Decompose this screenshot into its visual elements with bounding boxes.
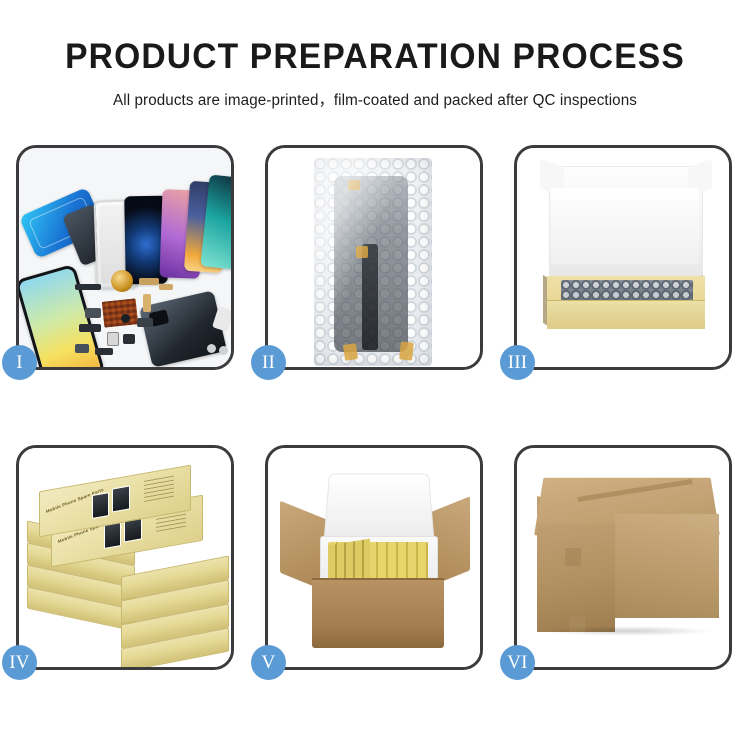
process-step-panel-3[interactable]: III (514, 145, 732, 370)
page-subtitle: All products are image-printed，film-coat… (8, 88, 743, 110)
part-fragment (75, 284, 101, 290)
page-title: PRODUCT PREPARATION PROCESS (15, 38, 735, 77)
step-5-image (268, 448, 480, 667)
process-step-panel-1[interactable]: I (16, 145, 234, 370)
part-fragment (139, 278, 159, 285)
step-badge-5: V (251, 645, 286, 680)
retail-box-stack: Mobile Phone Spare Parts Mobile Phone Sp… (25, 470, 231, 656)
step-badge-3: III (500, 345, 535, 380)
step-3-image (517, 148, 729, 367)
page-header: PRODUCT PREPARATION PROCESS All products… (0, 0, 750, 110)
part-fragment (75, 344, 89, 353)
bubble-wrap-gloss (314, 158, 432, 366)
process-step-panel-2[interactable]: II (265, 145, 483, 370)
carton-tab (565, 548, 581, 566)
part-fragment (159, 284, 173, 290)
step-badge-2: II (251, 345, 286, 380)
step-1-image (19, 148, 231, 367)
part-fragment (123, 334, 135, 344)
step-2-image (268, 148, 480, 367)
screw-part (207, 344, 216, 353)
step-4-image: Mobile Phone Spare Parts Mobile Phone Sp… (19, 448, 231, 667)
part-fragment (137, 318, 153, 327)
step-badge-6: VI (500, 645, 535, 680)
process-step-panel-5[interactable]: V (265, 445, 483, 670)
process-step-panel-4[interactable]: Mobile Phone Spare Parts Mobile Phone Sp… (16, 445, 234, 670)
box-product-photo (104, 522, 121, 549)
box-product-photo (92, 492, 109, 519)
carton-right-face (615, 514, 719, 618)
carton-front-face (312, 580, 444, 648)
part-fragment (85, 308, 101, 318)
step-badge-4: IV (2, 645, 37, 680)
step-badge-1: I (2, 345, 37, 380)
kraft-box-front (547, 300, 705, 329)
phone-back-housing (139, 290, 227, 367)
screw-part (219, 346, 228, 355)
phones-and-parts-illustration (19, 148, 231, 367)
foam-sheet (551, 188, 699, 264)
part-fragment (79, 324, 101, 332)
box-product-photo (112, 485, 130, 512)
logic-board-part (102, 298, 139, 327)
part-fragment (95, 348, 113, 355)
box-spec-text (144, 475, 174, 502)
step-6-image (517, 448, 729, 667)
speaker-part (111, 270, 133, 292)
carton-shadow (543, 626, 713, 636)
process-step-grid: I II III (16, 145, 734, 670)
part-fragment (121, 314, 130, 323)
process-step-panel-6[interactable]: VI (514, 445, 732, 670)
part-fragment (107, 332, 119, 346)
part-fragment (143, 294, 151, 312)
